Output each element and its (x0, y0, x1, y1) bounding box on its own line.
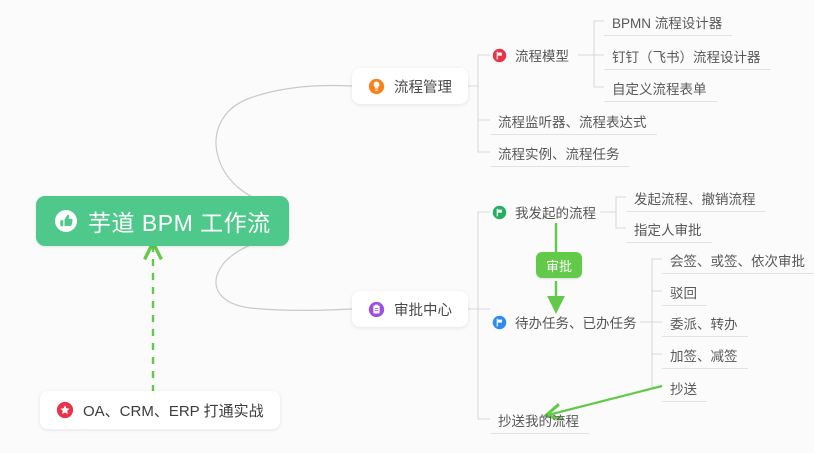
leaf-node-process-listener[interactable]: 流程监听器、流程表达式 (490, 107, 657, 135)
leaf-node-cc-to-me-process[interactable]: 抄送我的流程 (490, 406, 589, 434)
sub-node-my-initiated-process[interactable]: 我发起的流程 (490, 199, 602, 225)
leaf-node-add-remove-sign[interactable]: 加签、减签 (662, 341, 748, 369)
root-node-label: 芋道 BPM 工作流 (88, 204, 271, 238)
leaf-node-start-cancel-process[interactable]: 发起流程、撤销流程 (626, 184, 766, 212)
leaf-node-bpmn-designer[interactable]: BPMN 流程设计器 (604, 8, 732, 36)
link-my-initiated-leaves (600, 197, 626, 228)
branch-label-process-management: 流程管理 (394, 76, 452, 97)
leaf-node-dingtalk-designer[interactable]: 钉钉（飞书）流程设计器 (604, 42, 771, 70)
branch-node-process-management[interactable]: 流程管理 (352, 68, 468, 104)
link-root-to-process-management (216, 85, 352, 205)
clipboard-icon (368, 301, 385, 318)
sub-node-process-model[interactable]: 流程模型 (490, 42, 575, 68)
lightbulb-icon (368, 78, 385, 95)
flag-icon-blue (492, 315, 507, 330)
link-todo-tasks-leaves (640, 259, 662, 387)
leaf-node-cc[interactable]: 抄送 (662, 374, 707, 402)
approval-tag: 审批 (536, 252, 582, 278)
root-node[interactable]: 芋道 BPM 工作流 (36, 196, 289, 246)
thumbs-up-icon (54, 209, 78, 233)
leaf-node-delegate-transfer[interactable]: 委派、转办 (662, 309, 748, 337)
leaf-node-assigned-approver[interactable]: 指定人审批 (626, 215, 712, 243)
link-root-to-approval-center (216, 238, 352, 310)
star-icon (56, 401, 74, 419)
mindmap-canvas: 芋道 BPM 工作流 流程管理 流程模型 BPMN 流程设计器 钉钉（飞书）流程… (0, 0, 814, 453)
sub-label-todo-done-tasks: 待办任务、已办任务 (515, 312, 637, 332)
integration-callout-label: OA、CRM、ERP 打通实战 (83, 400, 264, 421)
sub-label-process-model: 流程模型 (515, 45, 569, 65)
link-process-model-leaves (578, 21, 604, 87)
branch-node-approval-center[interactable]: 审批中心 (352, 291, 468, 327)
branch-label-approval-center: 审批中心 (394, 299, 452, 320)
sub-node-todo-done-tasks[interactable]: 待办任务、已办任务 (490, 309, 643, 335)
flag-icon-red (492, 48, 507, 63)
integration-callout-node[interactable]: OA、CRM、ERP 打通实战 (40, 391, 280, 429)
leaf-node-process-instance[interactable]: 流程实例、流程任务 (490, 139, 630, 167)
leaf-node-countersign[interactable]: 会签、或签、依次审批 (662, 246, 814, 274)
flag-icon-green (492, 205, 507, 220)
approval-tag-label: 审批 (546, 256, 572, 275)
leaf-node-custom-form[interactable]: 自定义流程表单 (604, 74, 717, 102)
link-process-management-children (462, 55, 490, 152)
leaf-node-reject[interactable]: 驳回 (662, 278, 707, 306)
sub-label-my-initiated-process: 我发起的流程 (515, 202, 596, 222)
